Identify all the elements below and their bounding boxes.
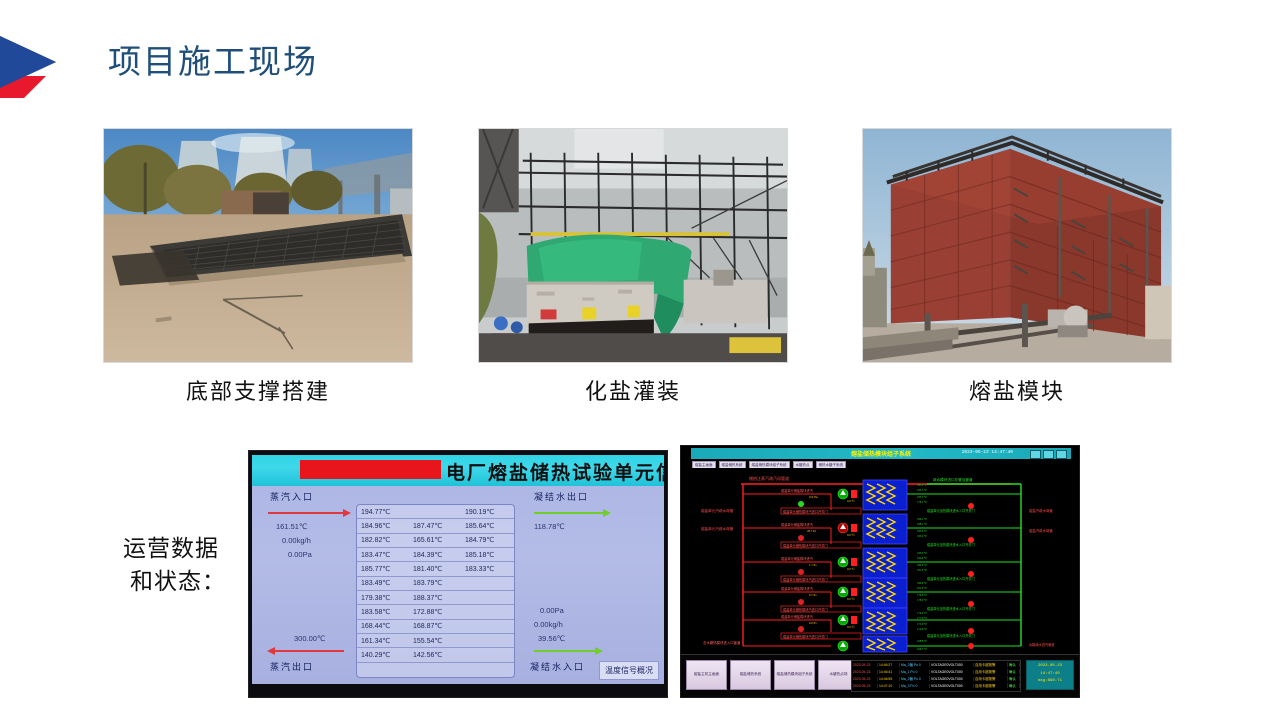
alarm-log-row[interactable]: 2023-05-2314:47:10Ma_3 Po 0VOLTAGE0VOLT0… xyxy=(852,682,1020,689)
status-time: 14:47:40 xyxy=(1027,671,1073,679)
photo-row xyxy=(0,128,1280,364)
temperature-cell: 190.19℃ xyxy=(461,508,513,516)
temperature-cell: 179.38℃ xyxy=(357,594,409,602)
svg-text:熔盐汽疏水母管: 熔盐汽疏水母管 xyxy=(1029,508,1053,513)
svg-text:181.0 ℃: 181.0 ℃ xyxy=(917,568,927,572)
svg-text:168.8 ℃: 168.8 ℃ xyxy=(917,639,927,643)
alarm-log-cell: Ma_3 Po 0 xyxy=(900,684,930,688)
scada-titlebar: 熔盐储热模块组子系统 2023-05-23 14:47:40 xyxy=(691,448,1071,459)
condensate-inlet-pressure: 0.00Pa xyxy=(540,606,564,615)
svg-text:熔盐单元储热模块汽进口开关门: 熔盐单元储热模块汽进口开关门 xyxy=(783,577,828,582)
alarm-log-cell: 确认 xyxy=(1008,676,1020,681)
temperature-cell: 185.18℃ xyxy=(461,551,513,559)
svg-text:184.0 ℃: 184.0 ℃ xyxy=(917,556,927,560)
svg-text:熔盐单元加热模块进水入口开关门: 熔盐单元加热模块进水入口开关门 xyxy=(927,576,975,581)
alarm-log-cell: 确认 xyxy=(1008,669,1020,674)
alarm-log-table[interactable]: 2023-05-2314:46:27Ma_2偏 Po 0VOLTAGE0VOLT… xyxy=(851,660,1021,692)
hmi-signal-panel: 电厂熔盐储热试验单元信号 蒸汽入口 161.51℃ 0.00kg/h 0.00P… xyxy=(248,450,668,698)
temperature-cell: 155.54℃ xyxy=(409,637,461,645)
svg-text:185.3 ℃: 185.3 ℃ xyxy=(917,495,927,499)
condensate-inlet-temp: 39.56℃ xyxy=(538,634,565,643)
condensate-outlet-arrow-icon xyxy=(534,512,604,514)
temperature-table-row: 184.96℃187.47℃185.64℃ xyxy=(357,519,514,533)
svg-text:0.0 ℃: 0.0 ℃ xyxy=(847,533,856,537)
alarm-log-cell: VOLTAGE0VOLT000 xyxy=(930,670,974,674)
svg-text:熔盐汽疏水母管: 熔盐汽疏水母管 xyxy=(1029,528,1053,533)
hmi-signal-titlebar: 电厂熔盐储热试验单元信号 xyxy=(252,455,664,486)
alarm-log-cell: 确认 xyxy=(1008,662,1020,667)
alarm-log-cell: 14:46:41 xyxy=(878,670,900,674)
scada-nav-button[interactable]: 熔盐储热模块组子系统 xyxy=(774,660,815,690)
svg-text:熔盐单元储盐模块进汽: 熔盐单元储盐模块进汽 xyxy=(781,488,814,493)
svg-text:176.0 ℃: 176.0 ℃ xyxy=(917,611,927,615)
temperature-cell: 183.33℃ xyxy=(461,565,513,573)
temperature-cell: 165.61℃ xyxy=(409,536,461,544)
svg-text:183.4 ℃: 183.4 ℃ xyxy=(917,534,927,538)
temperature-cell: 181.40℃ xyxy=(409,565,461,573)
condensate-inlet-arrow-icon xyxy=(534,650,596,652)
photo-caption-3: 熔盐模块 xyxy=(862,374,1172,406)
temperature-cell: 183.49℃ xyxy=(357,579,409,587)
temperature-cell: 183.79℃ xyxy=(409,579,461,587)
svg-text:熔盐单元汽疏水母管: 熔盐单元汽疏水母管 xyxy=(701,526,734,531)
alarm-log-cell: 自用卡超报警 xyxy=(974,662,1008,667)
photo-salt-module xyxy=(862,128,1172,363)
temperature-table-row: 168.44℃168.87℃ xyxy=(357,620,514,634)
svg-text:1.1 Pa: 1.1 Pa xyxy=(809,563,817,567)
svg-text:177.0 ℃: 177.0 ℃ xyxy=(917,616,927,620)
alarm-log-cell: VOLTAGE0VOLT000 xyxy=(930,684,974,688)
temperature-cell: 187.47℃ xyxy=(409,522,461,530)
temperature-table-row xyxy=(357,663,514,677)
scada-nav-button[interactable]: 熔盐储热系统 xyxy=(730,660,771,690)
alarm-log-cell: 自用卡超报警 xyxy=(974,676,1008,681)
svg-text:28.7 Pa: 28.7 Pa xyxy=(807,529,817,533)
temperature-table: 194.77℃190.19℃184.96℃187.47℃185.64℃182.8… xyxy=(356,504,515,678)
alarm-log-cell: VOLTAGE0VOLT000 xyxy=(930,663,974,667)
hmi-signal-body: 蒸汽入口 161.51℃ 0.00kg/h 0.00Pa 凝结水出口 118.7… xyxy=(252,486,664,684)
svg-text:179.0 ℃: 179.0 ℃ xyxy=(917,593,927,597)
temperature-cell: 182.82℃ xyxy=(357,536,409,544)
svg-text:0.7 Pa: 0.7 Pa xyxy=(809,593,817,597)
svg-text:熔盐单元储热模块汽进口开关门: 熔盐单元储热模块汽进口开关门 xyxy=(783,543,828,548)
temperature-cell: 184.96℃ xyxy=(357,522,409,530)
condensate-outlet-temp: 118.78℃ xyxy=(534,522,565,531)
temperature-cell: 194.77℃ xyxy=(357,508,409,516)
svg-text:熔盐单元储热模块汽进口开关门: 熔盐单元储热模块汽进口开关门 xyxy=(783,607,828,612)
scada-title: 熔盐储热模块组子系统 xyxy=(851,449,911,458)
svg-text:174.0 ℃: 174.0 ℃ xyxy=(917,627,927,631)
operation-data-label-line1: 运营数据 xyxy=(123,536,219,561)
alarm-log-cell: 自用卡超报警 xyxy=(974,683,1008,688)
svg-text:185.0 ℃: 185.0 ℃ xyxy=(917,483,927,487)
alarm-log-cell: 14:47:10 xyxy=(878,684,900,688)
svg-text:0.0 ℃: 0.0 ℃ xyxy=(847,597,856,601)
temperature-table-row: 161.34℃155.54℃ xyxy=(357,634,514,648)
svg-text:0.0 Pa: 0.0 Pa xyxy=(809,495,818,499)
temperature-table-row: 183.49℃183.79℃ xyxy=(357,577,514,591)
svg-text:0.0 Pa: 0.0 Pa xyxy=(809,621,817,625)
temperature-cell: 168.87℃ xyxy=(409,622,461,630)
temperature-cell: 140.29℃ xyxy=(357,651,409,659)
svg-text:熔盐单元储盐模块进汽: 熔盐单元储盐模块进汽 xyxy=(781,586,814,591)
scada-process-diagram: 储热注蒸汽疏汽母管道 疏水模块进口总管及管道 熔盐单元汽疏水母管 熔盐单元汽疏水… xyxy=(681,468,1080,653)
operation-data-label-line2: 和状态： xyxy=(96,565,246,598)
svg-text:0.0 ℃: 0.0 ℃ xyxy=(847,625,856,629)
temperature-cell: 142.56℃ xyxy=(409,651,461,659)
hmi-scada-panel: 熔盐储热模块组子系统 2023-05-23 14:47:40 熔盐主画面熔盐储热… xyxy=(680,445,1080,698)
svg-text:熔盐单元储盐模块进汽: 熔盐单元储盐模块进汽 xyxy=(781,556,814,561)
svg-text:去水罐热模块进入口管道: 去水罐热模块进入口管道 xyxy=(703,640,741,645)
svg-text:180.0 ℃: 180.0 ℃ xyxy=(917,581,927,585)
steam-inlet-pressure: 0.00Pa xyxy=(288,550,312,559)
scada-status-box: 2023-05-23 14:47:40 msg:896:71 xyxy=(1026,660,1074,690)
svg-text:疏水模块进口总管及管道: 疏水模块进口总管及管道 xyxy=(933,477,973,482)
temperature-signal-overview-button[interactable]: 温度信号概况 xyxy=(599,661,659,680)
temperature-cell: 185.64℃ xyxy=(461,522,513,530)
svg-text:储热注蒸汽疏汽母管道: 储热注蒸汽疏汽母管道 xyxy=(749,475,789,481)
alarm-log-cell: VOLTAGE0VOLT000 xyxy=(930,677,974,681)
temperature-table-row: 182.82℃165.61℃184.79℃ xyxy=(357,534,514,548)
condensate-outlet-label: 凝结水出口 xyxy=(534,490,589,503)
alarm-log-cell: Ma_2偏 Po 0 xyxy=(900,662,930,667)
operation-data-label: 运营数据 和状态： xyxy=(96,532,246,599)
photo-bottom-support xyxy=(103,128,413,363)
photo-salt-filling xyxy=(478,128,788,363)
steam-outlet-label: 蒸汽出口 xyxy=(270,660,314,673)
alarm-log-cell: 2023-05-23 xyxy=(852,663,878,667)
svg-text:178.0 ℃: 178.0 ℃ xyxy=(917,598,927,602)
condensate-inlet-label: 凝结水入口 xyxy=(530,660,585,673)
steam-outlet-temp: 300.00℃ xyxy=(294,634,325,643)
svg-text:熔盐单元加热模块进水入口开关门: 熔盐单元加热模块进水入口开关门 xyxy=(927,508,975,513)
close-icon[interactable] xyxy=(1056,450,1067,459)
svg-text:175.0 ℃: 175.0 ℃ xyxy=(917,622,927,626)
temperature-table-row: 179.38℃188.37℃ xyxy=(357,591,514,605)
temperature-cell: 172.88℃ xyxy=(409,608,461,616)
svg-text:188.1 ℃: 188.1 ℃ xyxy=(917,522,927,526)
svg-text:184.3 ℃: 184.3 ℃ xyxy=(917,488,927,492)
alarm-log-cell: Ma_2偏 Po 0 xyxy=(900,676,930,681)
condensate-inlet-flow: 0.00kg/h xyxy=(534,620,563,629)
temperature-cell: 183.47℃ xyxy=(357,551,409,559)
alarm-log-cell: Ma_1 Po 0 xyxy=(900,670,930,674)
hmi-signal-title: 电厂熔盐储热试验单元信号 xyxy=(446,458,664,485)
steam-inlet-label: 蒸汽入口 xyxy=(270,490,314,503)
svg-text:熔盐单元加热模块进水入口开关门: 熔盐单元加热模块进水入口开关门 xyxy=(927,542,975,547)
scada-bottom-bar: 熔盐主机主画面熔盐储热系统熔盐储热模块组子系统水罐热点场储热水罐子系统 报警及工… xyxy=(681,654,1080,697)
svg-text:熔盐单元加热模块进水入口开关门: 熔盐单元加热模块进水入口开关门 xyxy=(927,606,975,611)
alarm-log-row[interactable]: 2023-05-2314:46:27Ma_2偏 Po 0VOLTAGE0VOLT… xyxy=(852,661,1020,668)
temperature-cell: 183.58℃ xyxy=(357,608,409,616)
temperature-cell: 184.79℃ xyxy=(461,536,513,544)
scada-nav-button[interactable]: 熔盐主机主画面 xyxy=(686,660,727,690)
page-title: 项目施工现场 xyxy=(108,44,318,84)
alarm-log-cell: 确认 xyxy=(1008,683,1020,688)
svg-text:0.0 ℃: 0.0 ℃ xyxy=(847,567,856,571)
slide-root: 项目施工现场 xyxy=(0,0,1280,720)
svg-text:熔盐单元储盐模块进汽: 熔盐单元储盐模块进汽 xyxy=(781,614,814,619)
svg-text:熔盐单元储热模块汽进口开关门: 熔盐单元储热模块汽进口开关门 xyxy=(783,509,828,514)
svg-text:183.0 ℃: 183.0 ℃ xyxy=(917,551,927,555)
photo-caption-1: 底部支撑搭建 xyxy=(103,374,413,406)
alarm-log-row[interactable]: 2023-05-2314:46:55Ma_2偏 Po 0VOLTAGE0VOLT… xyxy=(852,675,1020,682)
steam-inlet-arrow-icon xyxy=(268,512,344,514)
temperature-cell: 168.44℃ xyxy=(357,622,409,630)
svg-text:0.0 ℃: 0.0 ℃ xyxy=(847,499,856,503)
temperature-cell: 161.34℃ xyxy=(357,637,409,645)
svg-text:熔盐单元汽疏水母管: 熔盐单元汽疏水母管 xyxy=(701,508,734,513)
alarm-log-row[interactable]: 2023-05-2314:46:41Ma_1 Po 0VOLTAGE0VOLT0… xyxy=(852,668,1020,675)
temperature-table-row: 194.77℃190.19℃ xyxy=(357,505,514,519)
temperature-cell: 185.77℃ xyxy=(357,565,409,573)
temperature-cell: 184.39℃ xyxy=(409,551,461,559)
steam-inlet-temp: 161.51℃ xyxy=(276,522,307,531)
alarm-log-cell: 自用卡超报警 xyxy=(974,669,1008,674)
scada-clock: 2023-05-23 14:47:40 xyxy=(962,450,1013,455)
temperature-table-row: 183.47℃184.39℃185.18℃ xyxy=(357,548,514,562)
svg-text:熔盐单元储盐模块进汽: 熔盐单元储盐模块进汽 xyxy=(781,522,814,527)
svg-text:熔盐单元储热模块汽进口开关门: 熔盐单元储热模块汽进口开关门 xyxy=(783,634,828,639)
temperature-table-row: 183.58℃172.88℃ xyxy=(357,605,514,619)
temperature-table-row: 185.77℃181.40℃183.33℃ xyxy=(357,562,514,576)
alarm-log-cell: 14:46:27 xyxy=(878,663,900,667)
status-message: msg:896:71 xyxy=(1027,678,1073,686)
alarm-log-cell: 14:46:55 xyxy=(878,677,900,681)
steam-outlet-arrow-icon xyxy=(274,650,344,652)
status-date: 2023-05-23 xyxy=(1027,663,1073,671)
scada-window-buttons[interactable] xyxy=(1030,450,1067,459)
steam-inlet-flow: 0.00kg/h xyxy=(282,536,311,545)
svg-text:182.0 ℃: 182.0 ℃ xyxy=(917,563,927,567)
photo-caption-2: 化盐灌装 xyxy=(478,374,788,406)
svg-text:178.1 ℃: 178.1 ℃ xyxy=(917,500,927,504)
company-chevron-logo xyxy=(0,28,62,106)
maximize-icon[interactable] xyxy=(1043,450,1054,459)
svg-text:水罐疏水进汽管道: 水罐疏水进汽管道 xyxy=(1029,642,1055,647)
minimize-icon[interactable] xyxy=(1030,450,1041,459)
svg-text:186.1 ℃: 186.1 ℃ xyxy=(917,517,927,521)
hmi-signal-screen: 电厂熔盐储热试验单元信号 蒸汽入口 161.51℃ 0.00kg/h 0.00P… xyxy=(252,455,664,684)
temperature-table-row: 140.29℃142.56℃ xyxy=(357,648,514,662)
redacted-company-name xyxy=(300,460,441,479)
svg-text:166.5 ℃: 166.5 ℃ xyxy=(917,647,927,651)
alarm-log-cell: 2023-05-23 xyxy=(852,670,878,674)
alarm-log-cell: 2023-05-23 xyxy=(852,677,878,681)
alarm-log-cell: 2023-05-23 xyxy=(852,684,878,688)
temperature-cell: 188.37℃ xyxy=(409,594,461,602)
svg-text:183.4 ℃: 183.4 ℃ xyxy=(917,529,927,533)
svg-text:熔盐单元加热模块进水入口开关门: 熔盐单元加热模块进水入口开关门 xyxy=(927,633,975,638)
svg-text:181.0 ℃: 181.0 ℃ xyxy=(917,586,927,590)
